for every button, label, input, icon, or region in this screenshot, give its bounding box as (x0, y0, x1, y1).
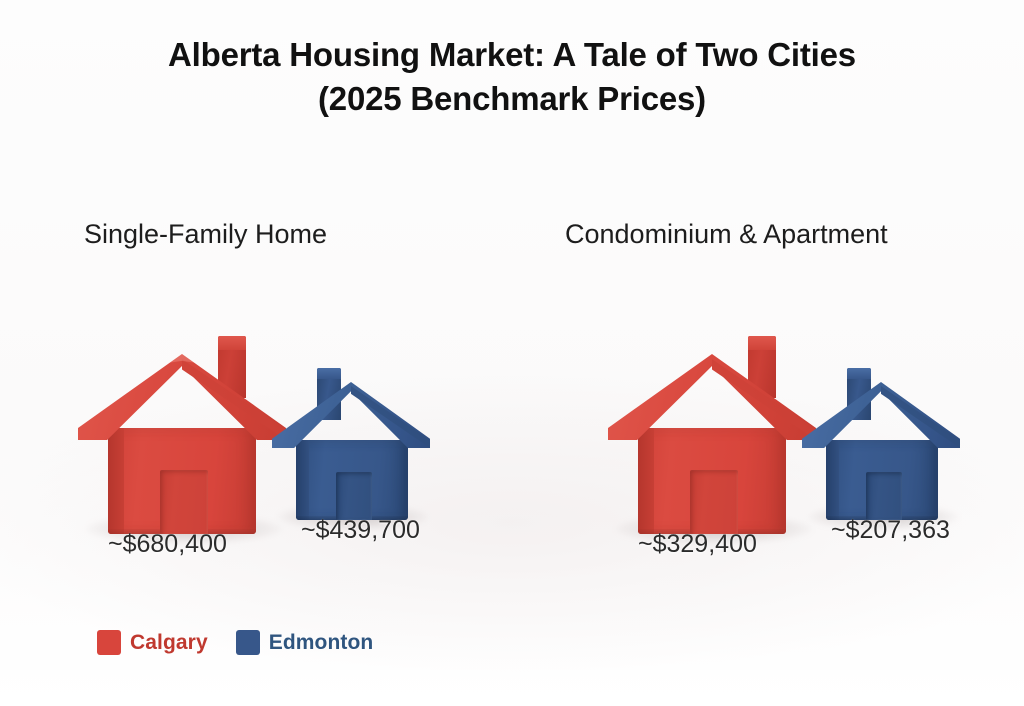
legend-item-calgary[interactable]: Calgary (97, 630, 208, 655)
category-heading-single-family: Single-Family Home (84, 219, 327, 250)
legend-swatch-calgary-icon (97, 630, 121, 655)
house-door (160, 470, 208, 534)
legend: Calgary Edmonton (97, 630, 373, 655)
house-door-panel (160, 470, 208, 534)
house-icon-edmonton-condominium (802, 356, 960, 522)
title-line-2: (2025 Benchmark Prices) (0, 77, 1024, 121)
house-roof (802, 382, 960, 448)
price-label-edmonton-single-family: ~$439,700 (301, 516, 420, 545)
legend-swatch-edmonton-icon (236, 630, 260, 655)
legend-label-edmonton: Edmonton (269, 631, 374, 655)
chimney-cap (218, 336, 246, 350)
chimney-cap (847, 368, 871, 379)
house-roof (78, 354, 286, 440)
house-body-side (296, 440, 309, 520)
house-icon-calgary-condominium (608, 318, 816, 536)
page-title: Alberta Housing Market: A Tale of Two Ci… (0, 33, 1024, 121)
house-roof (272, 382, 430, 448)
house-icon-calgary-single-family (78, 318, 286, 536)
house-body (296, 440, 408, 520)
house-door-panel (866, 472, 902, 520)
house-body-side (638, 428, 654, 534)
house-door-panel (336, 472, 372, 520)
house-door-panel (690, 470, 738, 534)
house-door (690, 470, 738, 534)
house-3d-blue (802, 356, 960, 522)
house-body-side (108, 428, 124, 534)
legend-label-calgary: Calgary (130, 631, 208, 655)
chimney-cap (317, 368, 341, 379)
infographic-canvas: Alberta Housing Market: A Tale of Two Ci… (0, 0, 1024, 706)
legend-item-edmonton[interactable]: Edmonton (236, 630, 374, 655)
house-roof (608, 354, 816, 440)
house-icon-edmonton-single-family (272, 356, 430, 522)
price-label-calgary-single-family: ~$680,400 (108, 530, 227, 559)
house-door (866, 472, 902, 520)
house-door (336, 472, 372, 520)
house-body-side (826, 440, 839, 520)
house-3d-blue (272, 356, 430, 522)
category-heading-condominium: Condominium & Apartment (565, 219, 888, 250)
title-line-1: Alberta Housing Market: A Tale of Two Ci… (0, 33, 1024, 77)
chimney-cap (748, 336, 776, 350)
price-label-edmonton-condominium: ~$207,363 (831, 516, 950, 545)
house-3d-red (78, 318, 286, 536)
price-label-calgary-condominium: ~$329,400 (638, 530, 757, 559)
house-3d-red (608, 318, 816, 536)
house-body (108, 428, 256, 534)
house-body (638, 428, 786, 534)
house-body (826, 440, 938, 520)
